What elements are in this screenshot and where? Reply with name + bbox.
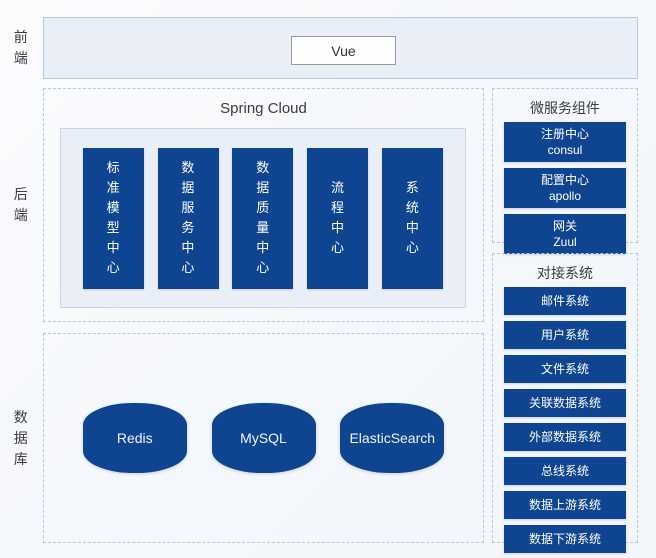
database-cylinder-label: Redis	[117, 430, 153, 446]
microservice-chip-3[interactable]: 网关Zuul	[504, 214, 626, 254]
database-tier-panel: RedisMySQLElasticSearch	[43, 333, 484, 543]
service-card-char: 心	[107, 258, 121, 278]
service-card-char: 准	[107, 178, 121, 198]
service-card-char: 务	[181, 218, 195, 238]
microservice-chip-name: 注册中心	[504, 126, 626, 142]
service-card-char: 统	[406, 198, 420, 218]
docking-chip-2[interactable]: 用户系统	[504, 321, 626, 349]
service-card-3[interactable]: 数据质量中心	[232, 148, 293, 289]
row-label-char: 据	[14, 428, 29, 449]
microservice-chip-name: 网关	[504, 218, 626, 234]
microservice-chip-tech: Zuul	[504, 234, 626, 250]
docking-chip-3[interactable]: 文件系统	[504, 355, 626, 383]
microservice-panel-title: 微服务组件	[493, 98, 637, 118]
row-label-char: 数	[14, 407, 29, 428]
vue-label: Vue	[331, 43, 355, 59]
database-cylinder-label: ElasticSearch	[349, 430, 435, 446]
database-node-row: RedisMySQLElasticSearch	[44, 334, 483, 542]
service-card-char: 心	[331, 238, 345, 258]
microservice-chip-tech: consul	[504, 142, 626, 158]
microservice-chip-name: 配置中心	[504, 172, 626, 188]
service-card-char: 据	[181, 178, 195, 198]
microservice-chip-1[interactable]: 注册中心consul	[504, 122, 626, 162]
row-label-database: 数据库	[0, 333, 42, 543]
service-card-char: 流	[331, 178, 345, 198]
microservice-chip-tech: apollo	[504, 188, 626, 204]
service-card-1[interactable]: 标准模型中心	[83, 148, 144, 289]
database-cylinder-label: MySQL	[240, 430, 287, 446]
docking-systems-panel: 对接系统 邮件系统用户系统文件系统关联数据系统外部数据系统总线系统数据上游系统数…	[492, 253, 638, 543]
service-card-char: 模	[107, 198, 121, 218]
docking-chip-8[interactable]: 数据下游系统	[504, 525, 626, 553]
row-label-char: 后	[14, 184, 29, 205]
microservice-components-panel: 微服务组件 注册中心consul配置中心apollo网关Zuul	[492, 88, 638, 243]
microservice-chip-stack: 注册中心consul配置中心apollo网关Zuul	[504, 122, 626, 254]
service-card-char: 服	[181, 198, 195, 218]
docking-panel-title: 对接系统	[493, 263, 637, 283]
service-card-5[interactable]: 系统中心	[382, 148, 443, 289]
service-card-char: 中	[331, 218, 345, 238]
row-label-char: 库	[14, 449, 29, 470]
service-card-char: 系	[406, 178, 420, 198]
service-card-row: 标准模型中心数据服务中心数据质量中心流程中心系统中心	[61, 129, 465, 307]
row-label-backend: 后端	[0, 88, 42, 322]
backend-tier-panel: Spring Cloud 标准模型中心数据服务中心数据质量中心流程中心系统中心	[43, 88, 484, 322]
service-card-char: 心	[256, 258, 270, 278]
service-card-char: 中	[256, 238, 270, 258]
service-card-char: 心	[406, 238, 420, 258]
database-cylinder-2[interactable]: MySQL	[212, 403, 316, 473]
service-card-char: 数	[256, 158, 270, 178]
service-card-char: 中	[107, 238, 121, 258]
docking-chip-7[interactable]: 数据上游系统	[504, 491, 626, 519]
docking-chip-1[interactable]: 邮件系统	[504, 287, 626, 315]
docking-chip-stack: 邮件系统用户系统文件系统关联数据系统外部数据系统总线系统数据上游系统数据下游系统	[504, 287, 626, 553]
frontend-tier-panel: Vue	[43, 17, 638, 79]
service-card-char: 量	[256, 218, 270, 238]
service-card-char: 据	[256, 178, 270, 198]
service-card-char: 中	[406, 218, 420, 238]
docking-chip-4[interactable]: 关联数据系统	[504, 389, 626, 417]
row-label-frontend: 前端	[0, 17, 42, 79]
spring-cloud-container: 标准模型中心数据服务中心数据质量中心流程中心系统中心	[60, 128, 466, 308]
service-card-char: 程	[331, 198, 345, 218]
microservice-chip-2[interactable]: 配置中心apollo	[504, 168, 626, 208]
docking-chip-6[interactable]: 总线系统	[504, 457, 626, 485]
service-card-char: 中	[181, 238, 195, 258]
diagram-canvas: 前端 后端 数据库 Vue Spring Cloud 标准模型中心数据服务中心数…	[0, 0, 656, 558]
row-label-char: 端	[14, 48, 29, 69]
service-card-2[interactable]: 数据服务中心	[158, 148, 219, 289]
service-card-4[interactable]: 流程中心	[307, 148, 368, 289]
service-card-char: 数	[181, 158, 195, 178]
row-label-char: 端	[14, 205, 29, 226]
docking-chip-5[interactable]: 外部数据系统	[504, 423, 626, 451]
service-card-char: 型	[107, 218, 121, 238]
database-cylinder-3[interactable]: ElasticSearch	[340, 403, 444, 473]
database-cylinder-1[interactable]: Redis	[83, 403, 187, 473]
spring-cloud-title: Spring Cloud	[44, 100, 483, 117]
vue-node[interactable]: Vue	[291, 36, 396, 65]
service-card-char: 心	[181, 258, 195, 278]
row-label-char: 前	[14, 27, 29, 48]
service-card-char: 质	[256, 198, 270, 218]
service-card-char: 标	[107, 158, 121, 178]
